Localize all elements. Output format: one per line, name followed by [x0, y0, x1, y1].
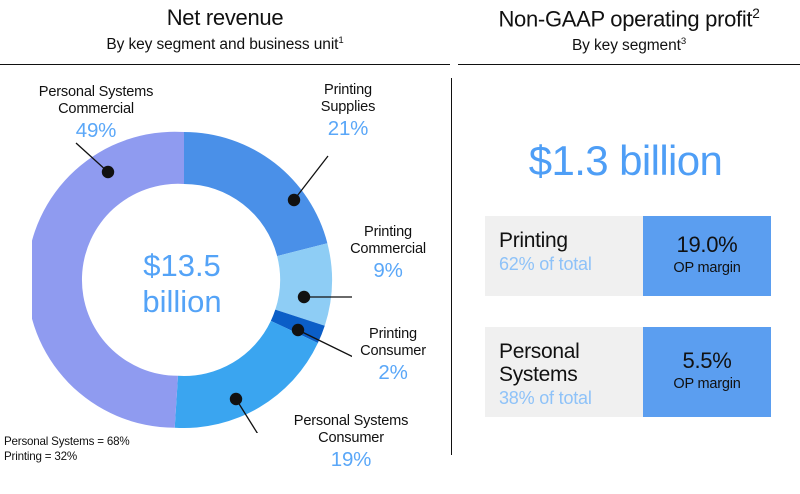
label-printing-supplies: Printing Supplies 21% — [300, 82, 396, 141]
donut-center-value-line2: billion — [142, 284, 221, 319]
operating-profit-panel: Non-GAAP operating profit2 By key segmen… — [451, 0, 800, 494]
label-personal-systems-consumer: Personal Systems Consumer 19% — [268, 413, 434, 472]
metric-value-box-printing: 19.0% OP margin — [643, 216, 771, 296]
footnote-marker-2: 2 — [752, 6, 759, 21]
label-printing-commercial: Printing Commercial 9% — [336, 224, 440, 283]
metric-margin-printing: 19.0% — [677, 234, 738, 256]
metric-row-personal-systems: Personal Systems 38% of total 5.5% OP ma… — [485, 327, 771, 417]
footnote-line-personal-systems: Personal Systems = 68% — [4, 435, 129, 450]
net-revenue-panel: Net revenue By key segment and business … — [0, 0, 451, 494]
donut-svg: $13.5 billion — [32, 128, 352, 433]
metric-caption-printing: OP margin — [673, 259, 740, 277]
right-panel-subtitle: By key segment3 — [458, 36, 800, 55]
label-printing-commercial-line2: Commercial — [350, 241, 426, 257]
leader-line-printing-supplies — [294, 156, 328, 200]
label-printing-commercial-pct: 9% — [336, 259, 440, 283]
metric-name-printing: Printing — [499, 229, 643, 252]
label-personal-systems-commercial: Personal Systems Commercial 49% — [6, 84, 186, 143]
donut-slice-personal-systems-consumer — [175, 321, 318, 428]
leader-dot-printing-consumer — [292, 324, 304, 336]
leader-dot-printing-commercial — [298, 291, 310, 303]
operating-profit-total: $1.3 billion — [451, 140, 800, 182]
label-ps-commercial-line2: Commercial — [58, 101, 134, 117]
metric-label-box-personal-systems: Personal Systems 38% of total — [485, 327, 643, 417]
label-printing-consumer-line2: Consumer — [360, 343, 426, 359]
right-panel-header: Non-GAAP operating profit2 By key segmen… — [458, 6, 800, 55]
metric-caption-personal-systems: OP margin — [673, 375, 740, 393]
panel-vertical-divider — [451, 78, 452, 455]
label-printing-consumer: Printing Consumer 2% — [346, 326, 440, 385]
label-printing-consumer-pct: 2% — [346, 361, 440, 385]
label-printing-supplies-line1: Printing — [324, 82, 372, 98]
label-ps-commercial-line1: Personal Systems — [39, 84, 153, 100]
metric-row-printing: Printing 62% of total 19.0% OP margin — [485, 216, 771, 296]
left-panel-subtitle: By key segment and business unit1 — [0, 35, 450, 54]
leader-dot-ps-commercial — [102, 166, 114, 178]
leader-dot-ps-consumer — [230, 393, 242, 405]
label-ps-consumer-line1: Personal Systems — [294, 413, 408, 429]
right-panel-title: Non-GAAP operating profit2 — [458, 6, 800, 32]
label-printing-supplies-line2: Supplies — [321, 99, 375, 115]
label-ps-consumer-pct: 19% — [268, 448, 434, 472]
label-printing-commercial-line1: Printing — [364, 224, 412, 240]
right-panel-divider — [458, 64, 800, 65]
net-revenue-donut-chart: $13.5 billion — [32, 128, 352, 433]
left-panel-title: Net revenue — [0, 6, 450, 31]
footnote-line-printing: Printing = 32% — [4, 450, 129, 465]
label-ps-consumer-line2: Consumer — [318, 430, 384, 446]
leader-dot-printing-supplies — [288, 194, 300, 206]
label-printing-consumer-line1: Printing — [369, 326, 417, 342]
metric-name-personal-systems-line1: Personal — [499, 340, 643, 363]
footnote-marker-3: 3 — [681, 36, 686, 47]
metric-share-printing: 62% of total — [499, 254, 643, 275]
metric-value-box-personal-systems: 5.5% OP margin — [643, 327, 771, 417]
metric-share-personal-systems: 38% of total — [499, 388, 643, 409]
metric-label-box-printing: Printing 62% of total — [485, 216, 643, 296]
left-panel-header: Net revenue By key segment and business … — [0, 6, 450, 54]
chart-footnote: Personal Systems = 68% Printing = 32% — [4, 435, 129, 465]
metric-name-personal-systems-line2: Systems — [499, 363, 643, 386]
donut-slice-printing-supplies — [184, 132, 327, 256]
label-printing-supplies-pct: 21% — [300, 117, 396, 141]
metric-margin-personal-systems: 5.5% — [683, 350, 732, 372]
footnote-marker-1: 1 — [338, 35, 343, 46]
donut-center-value-line1: $13.5 — [143, 248, 221, 283]
left-panel-divider — [0, 64, 450, 65]
label-ps-commercial-pct: 49% — [6, 119, 186, 143]
